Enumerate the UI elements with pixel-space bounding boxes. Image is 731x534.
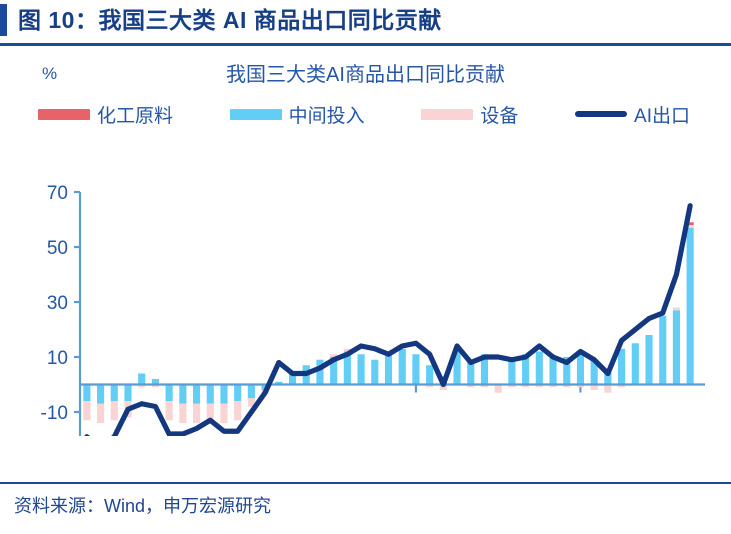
bar-segment-equipment xyxy=(220,404,227,423)
bar-segment-intermediate xyxy=(618,349,625,385)
source-note: 资料来源：Wind，申万宏源研究 xyxy=(14,492,271,518)
y-tick-label: -10 xyxy=(41,403,68,424)
chart-svg: -30-1010305070 2023202420252026 xyxy=(0,136,731,436)
bar-segment-equipment xyxy=(111,401,118,420)
bar-segment-intermediate xyxy=(193,385,200,404)
bar-segment-intermediate xyxy=(399,349,406,385)
bar-segment-equipment xyxy=(673,308,680,311)
ai-export-line xyxy=(87,206,690,436)
bar-segment-intermediate xyxy=(659,316,666,385)
bar-segment-intermediate xyxy=(166,385,173,402)
bar-segment-equipment xyxy=(179,404,186,423)
bar-segment-intermediate xyxy=(412,354,419,384)
header-accent-bar xyxy=(0,4,7,36)
y-tick-label: 10 xyxy=(47,348,68,369)
bar-segment-intermediate xyxy=(632,343,639,384)
legend-label-intermediate: 中间投入 xyxy=(289,101,365,128)
legend-item-ai-export[interactable]: AI出口 xyxy=(575,101,690,128)
bar-segment-equipment xyxy=(234,401,241,420)
figure-header: 图 10：我国三大类 AI 商品出口同比贡献 xyxy=(0,0,731,46)
bar-segment-equipment xyxy=(604,385,611,393)
footer-divider xyxy=(0,482,731,484)
axis-group xyxy=(74,192,580,436)
legend-label-chemical: 化工原料 xyxy=(97,101,173,128)
bar-segment-intermediate xyxy=(577,354,584,384)
bar-segment-intermediate xyxy=(645,335,652,385)
y-tick-labels: -30-1010305070 xyxy=(41,183,68,436)
bar-segment-equipment xyxy=(97,404,104,423)
bar-segment-intermediate xyxy=(207,385,214,404)
bar-segment-intermediate xyxy=(316,360,323,385)
ai-export-polyline xyxy=(87,206,690,436)
bar-segment-equipment xyxy=(83,401,90,420)
legend-swatch-equipment xyxy=(421,109,473,120)
legend-swatch-chemical xyxy=(38,109,90,120)
y-tick-label: 30 xyxy=(47,293,68,314)
bar-segment-intermediate xyxy=(371,360,378,385)
bar-segment-intermediate xyxy=(179,385,186,404)
legend-item-equipment[interactable]: 设备 xyxy=(421,101,518,128)
bar-segment-intermediate xyxy=(426,365,433,384)
bar-segment-intermediate xyxy=(358,354,365,384)
chart-legend: 化工原料 中间投入 设备 AI出口 xyxy=(38,100,698,128)
bar-segment-intermediate xyxy=(97,385,104,404)
legend-label-ai-export: AI出口 xyxy=(634,101,690,128)
header-divider xyxy=(0,43,731,46)
legend-item-intermediate[interactable]: 中间投入 xyxy=(230,101,365,128)
bar-segment-intermediate xyxy=(248,385,255,399)
bar-segment-intermediate xyxy=(536,352,543,385)
legend-item-chemical[interactable]: 化工原料 xyxy=(38,101,173,128)
legend-swatch-intermediate xyxy=(230,109,282,120)
bar-segment-intermediate xyxy=(234,385,241,402)
bars-group xyxy=(83,222,693,423)
bar-segment-equipment xyxy=(166,401,173,420)
bar-segment-intermediate xyxy=(124,385,131,402)
bar-segment-intermediate xyxy=(83,385,90,402)
plot-area: -30-1010305070 2023202420252026 xyxy=(0,136,731,436)
bar-segment-intermediate xyxy=(549,357,556,385)
bar-segment-intermediate xyxy=(111,385,118,402)
bar-segment-intermediate xyxy=(673,310,680,384)
bar-segment-intermediate xyxy=(687,228,694,385)
figure-title: 图 10：我国三大类 AI 商品出口同比贡献 xyxy=(18,4,442,36)
bar-segment-intermediate xyxy=(220,385,227,404)
bar-segment-equipment xyxy=(495,385,502,393)
y-tick-label: 50 xyxy=(47,238,68,259)
legend-swatch-ai-export xyxy=(575,111,627,117)
chart-title: 我国三大类AI商品出口同比贡献 xyxy=(0,58,731,87)
chart-card: % 我国三大类AI商品出口同比贡献 化工原料 中间投入 设备 AI出口 -30-… xyxy=(0,48,731,478)
bar-segment-equipment xyxy=(193,404,200,423)
y-tick-label: 70 xyxy=(47,183,68,204)
legend-label-equipment: 设备 xyxy=(480,101,518,128)
bar-segment-intermediate xyxy=(138,374,145,385)
